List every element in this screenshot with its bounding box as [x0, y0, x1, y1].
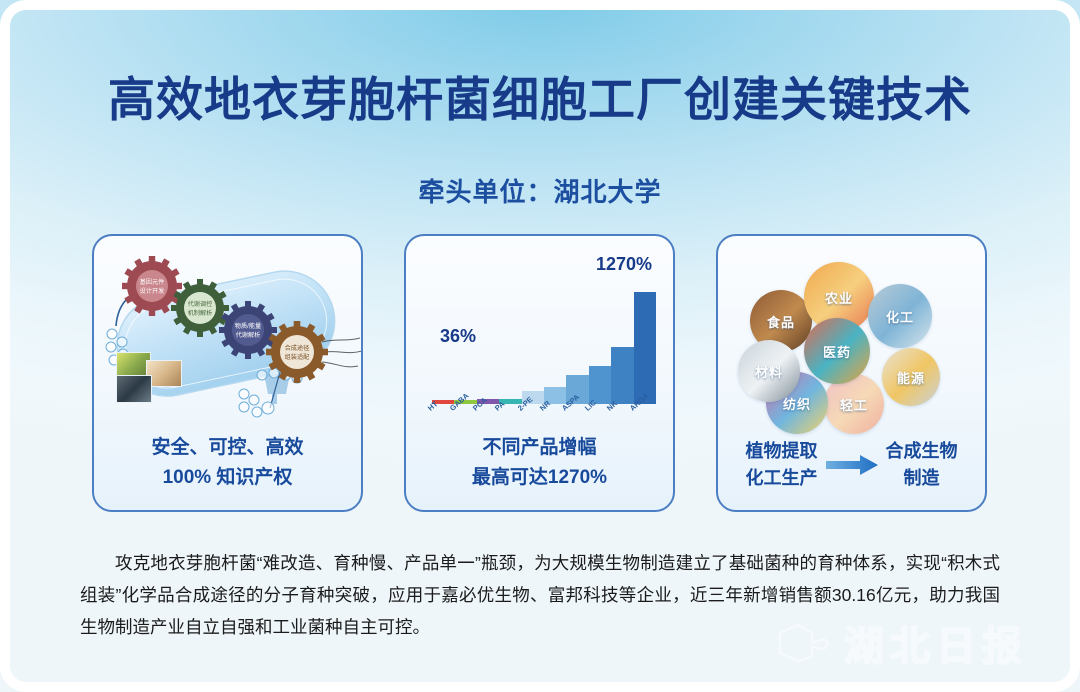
industry-circle-label: 轻工	[840, 395, 868, 414]
caption-line-2: 100% 知识产权	[94, 463, 361, 492]
chart-bar	[634, 292, 656, 404]
flow-arrow-icon	[826, 455, 878, 475]
industry-circle-3[interactable]: 能源	[882, 348, 940, 406]
svg-text:机制解析: 机制解析	[188, 309, 213, 317]
card-industries: 食品农业化工能源轻工纺织材料医药 植物提取 化工生产	[716, 234, 987, 512]
industry-circle-label: 农业	[825, 288, 853, 307]
infographic-poster: 高效地衣芽胞杆菌细胞工厂创建关键技术 牵头单位：湖北大学	[0, 0, 1080, 692]
flow-from: 植物提取 化工生产	[746, 438, 818, 492]
industry-circle-2[interactable]: 化工	[868, 284, 932, 348]
industry-circle-label: 食品	[767, 312, 795, 331]
card-bacterium: 基因元件 设计开发	[92, 234, 363, 512]
industry-circle-label: 能源	[897, 368, 925, 387]
flow-to: 合成生物 制造	[886, 438, 958, 492]
flow-from-line-1: 植物提取	[746, 438, 818, 465]
chart-plot-area	[432, 280, 656, 404]
page-title: 高效地衣芽胞杆菌细胞工厂创建关键技术	[0, 72, 1080, 127]
industry-circle-7[interactable]: 医药	[804, 318, 870, 384]
industry-circle-cluster: 食品农业化工能源轻工纺织材料医药	[732, 248, 975, 440]
chart-bars	[432, 280, 656, 404]
svg-text:合成途径: 合成途径	[285, 344, 310, 352]
svg-text:设计开发: 设计开发	[140, 287, 165, 295]
industry-circle-label: 纺织	[783, 394, 811, 413]
industry-circle-label: 医药	[823, 342, 851, 361]
svg-text:基因元件: 基因元件	[140, 278, 165, 286]
industry-circle-label: 化工	[886, 307, 914, 326]
gear-chain: 基因元件 设计开发	[94, 242, 363, 432]
flow-to-line-2: 制造	[886, 465, 958, 492]
caption-line-2: 最高可达1270%	[406, 463, 673, 492]
industry-circle-label: 材料	[755, 362, 783, 381]
card-bacterium-caption: 安全、可控、高效 100% 知识产权	[94, 433, 361, 492]
caption-line-1: 安全、可控、高效	[94, 433, 361, 462]
svg-text:组装适配: 组装适配	[285, 353, 310, 361]
chart-x-axis-labels: HTGABAPCAPA2-PENRASPALICNKARGA	[426, 404, 650, 430]
chart-label-max: 1270%	[596, 254, 652, 275]
svg-text:物质/能量: 物质/能量	[235, 322, 261, 330]
card-chart-caption: 不同产品增幅 最高可达1270%	[406, 433, 673, 492]
card-row: 基因元件 设计开发	[92, 234, 988, 512]
svg-text:代谢解析: 代谢解析	[236, 331, 261, 339]
bacterium-illustration: 基因元件 设计开发	[94, 242, 363, 432]
hubei-daily-logo-icon	[778, 623, 830, 663]
flow-to-line-1: 合成生物	[886, 438, 958, 465]
watermark: 湖北日报	[778, 612, 1028, 674]
flow-from-line-2: 化工生产	[746, 465, 818, 492]
industry-flow: 植物提取 化工生产 合成生物 制造	[718, 438, 985, 492]
page-subtitle: 牵头单位：湖北大学	[0, 172, 1080, 209]
card-chart: 36% 1270% HTGABAPCAPA2-PENRASPALICNKARGA…	[404, 234, 675, 512]
product-increase-chart: 36% 1270% HTGABAPCAPA2-PENRASPALICNKARGA	[426, 252, 658, 434]
watermark-text: 湖北日报	[844, 614, 1028, 672]
svg-text:代谢调控: 代谢调控	[188, 300, 213, 308]
caption-line-1: 不同产品增幅	[406, 433, 673, 462]
